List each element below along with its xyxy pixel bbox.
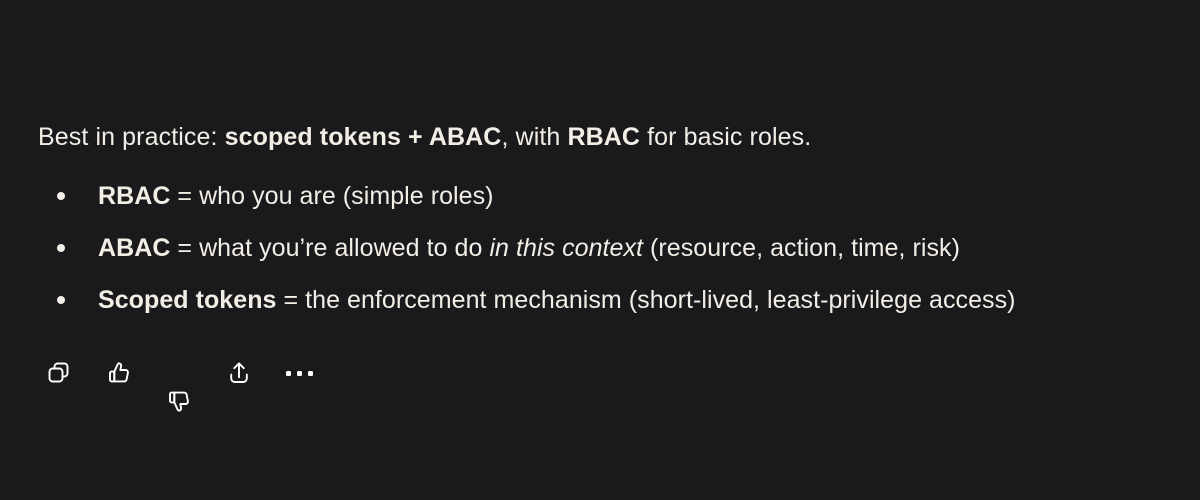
- chat-response-screen: Best in practice: scoped tokens + ABAC, …: [0, 0, 1200, 500]
- bullet-dot-icon: [57, 296, 65, 304]
- bullet-term: ABAC: [98, 234, 170, 262]
- bullet-term: Scoped tokens: [98, 286, 276, 314]
- list-item: ABAC = what you’re allowed to do in this…: [38, 222, 1178, 274]
- lead-bold-scoped-tokens-abac: scoped tokens + ABAC: [225, 123, 502, 151]
- lead-prefix: Best in practice:: [38, 123, 225, 151]
- dot-2: [297, 371, 302, 376]
- bullet-text-before-italic: = what you’re allowed to do: [170, 234, 489, 262]
- thumbs-up-icon: [105, 359, 133, 387]
- dot-1: [286, 371, 291, 376]
- concept-bullet-list: RBAC = who you are (simple roles) ABAC =…: [38, 170, 1178, 326]
- copy-button[interactable]: [38, 352, 80, 394]
- message-action-bar: [38, 352, 320, 394]
- bullet-term: RBAC: [98, 182, 170, 210]
- thumbs-down-icon: [165, 359, 193, 387]
- bullet-text-before-italic: = the enforcement mechanism (short-lived…: [276, 286, 1015, 314]
- share-button[interactable]: [218, 352, 260, 394]
- more-options-button[interactable]: [278, 352, 320, 394]
- bullet-dot-icon: [57, 244, 65, 252]
- list-item: Scoped tokens = the enforcement mechanis…: [38, 274, 1178, 326]
- bullet-text-before-italic: = who you are (simple roles): [170, 182, 493, 210]
- dot-3: [308, 371, 313, 376]
- bullet-text-after-italic: (resource, action, time, risk): [643, 234, 960, 262]
- assistant-message: Best in practice: scoped tokens + ABAC, …: [38, 120, 1178, 326]
- share-icon: [225, 359, 253, 387]
- list-item: RBAC = who you are (simple roles): [38, 170, 1178, 222]
- bullet-dot-icon: [57, 192, 65, 200]
- bullet-italic-phrase: in this context: [489, 234, 643, 262]
- lead-middle: , with: [501, 123, 567, 151]
- thumbs-down-button[interactable]: [158, 352, 200, 394]
- lead-suffix: for basic roles.: [640, 123, 811, 151]
- thumbs-up-button[interactable]: [98, 352, 140, 394]
- more-options-icon: [286, 371, 313, 376]
- lead-paragraph: Best in practice: scoped tokens + ABAC, …: [38, 120, 1178, 154]
- copy-icon: [45, 359, 73, 387]
- lead-bold-rbac: RBAC: [567, 123, 640, 151]
